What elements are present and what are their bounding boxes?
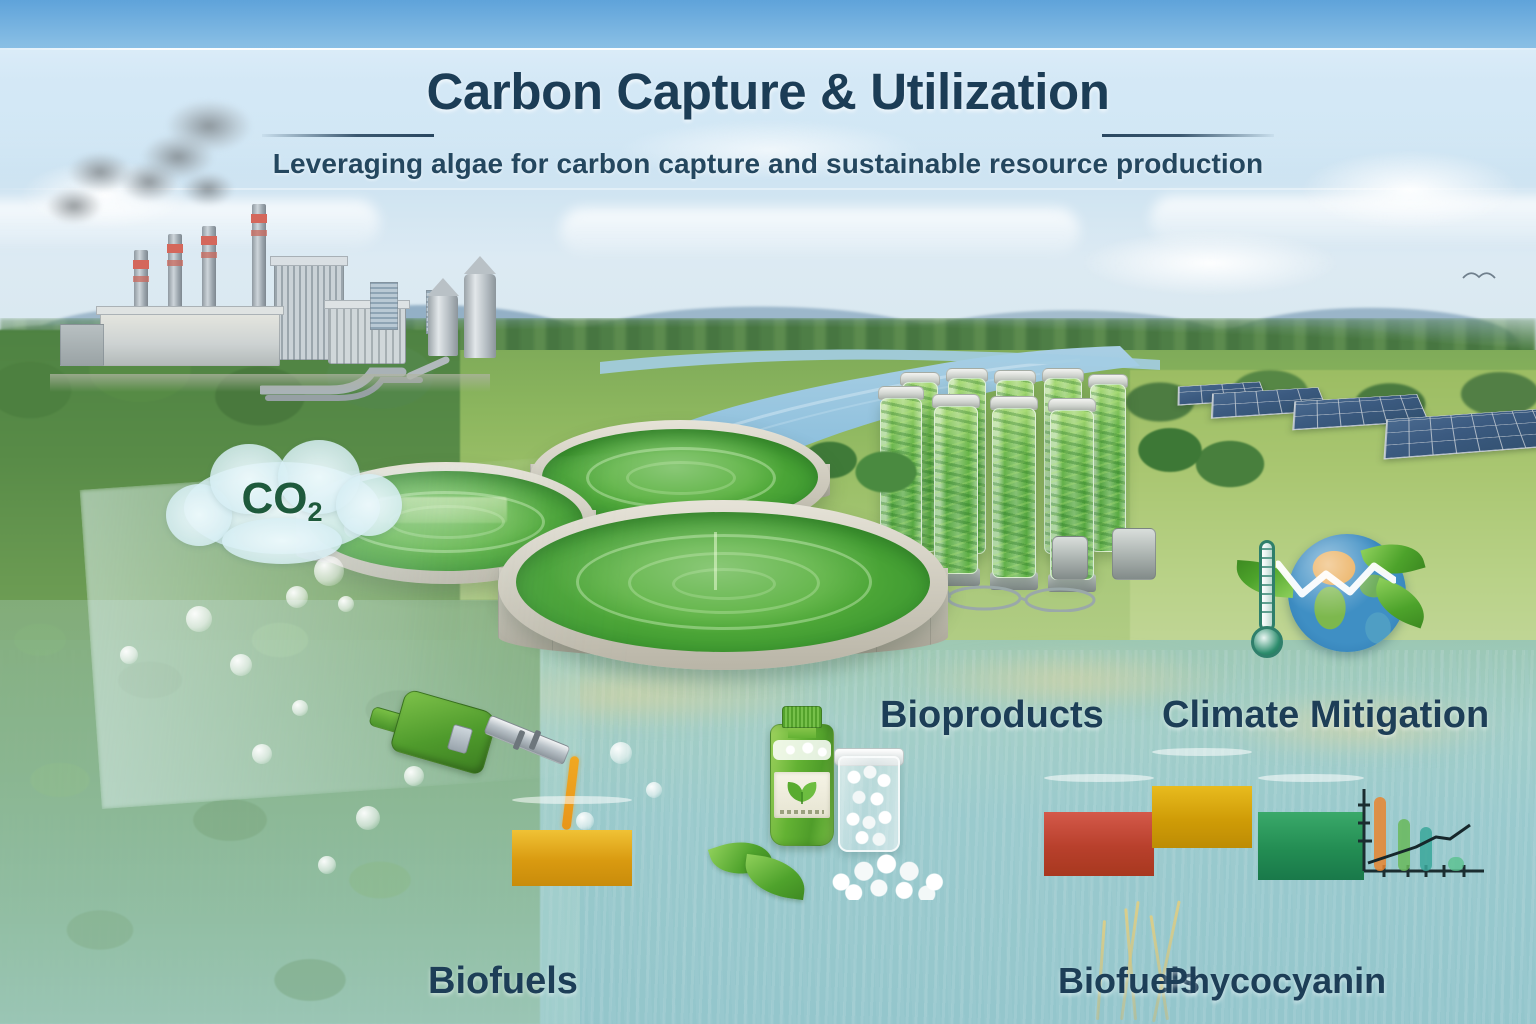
bubble-2 xyxy=(286,586,308,608)
label-phycocyanin: Phycocyanin xyxy=(1164,960,1386,1002)
top-frame-line xyxy=(0,48,1536,50)
yellow-liquid-surface xyxy=(1152,748,1252,756)
leaf-icon xyxy=(774,776,830,806)
label-bioproducts: Bioproducts xyxy=(880,694,1104,737)
plant-ground-apron xyxy=(50,374,490,392)
emissions-mini-chart xyxy=(1350,785,1490,885)
page-subtitle: Leveraging algae for carbon capture and … xyxy=(0,148,1536,180)
co2-cloud-puff-bottom xyxy=(222,518,342,564)
photobioreactor-front-3 xyxy=(992,408,1036,578)
fuel-nozzle-spout xyxy=(483,715,570,766)
power-plant xyxy=(30,196,530,416)
biofuel-flask-neck xyxy=(512,800,552,830)
chart-bar-3 xyxy=(1420,827,1432,871)
cloud-band-center xyxy=(560,208,1080,254)
chart-bar-4 xyxy=(1448,857,1464,871)
pond-front-paddle xyxy=(714,532,717,590)
bubble-6 xyxy=(120,646,138,664)
yellow-flask-neck xyxy=(1152,752,1188,786)
biofuel-liquid-surface xyxy=(512,796,632,804)
bioproduct-pellet-jar xyxy=(838,756,900,852)
yellow-flask-liquid xyxy=(1152,786,1252,848)
thermometer-ticks xyxy=(1262,548,1272,620)
main-hall xyxy=(100,312,280,366)
bioproduct-bottle-cap xyxy=(782,706,822,728)
red-liquid-surface xyxy=(1044,774,1154,782)
red-flask-liquid xyxy=(1044,812,1154,876)
biofuel-flask-cone xyxy=(512,830,632,938)
temperature-trend-line xyxy=(1276,558,1396,608)
bioproduct-leaf-2 xyxy=(742,854,809,900)
bioproduct-label-textlines xyxy=(780,810,824,814)
red-flask-neck xyxy=(1044,778,1084,812)
bubble-10 xyxy=(356,806,380,830)
yellow-flask-cone xyxy=(1152,786,1252,890)
bubble-5 xyxy=(186,606,212,632)
right-bushes-cluster xyxy=(1130,400,1270,510)
phyco-liquid-surface xyxy=(1258,774,1364,782)
title-rule-left xyxy=(262,134,434,137)
co2-label-subscript: 2 xyxy=(307,497,322,527)
bubble-14 xyxy=(646,782,662,798)
fuel-nozzle-body xyxy=(389,688,499,776)
phycocyanin-flask xyxy=(1258,778,1364,928)
yellow-pigment-flask xyxy=(1152,752,1252,900)
bubble-3 xyxy=(338,596,354,612)
small-tower-1 xyxy=(370,282,398,330)
bioplastic-pellet-pile xyxy=(826,840,952,900)
biofuel-flask-liquid xyxy=(512,830,632,886)
phyco-flask-liquid xyxy=(1258,812,1364,880)
bubble-12 xyxy=(252,744,272,764)
biofuel-flask xyxy=(512,800,632,940)
bubble-7 xyxy=(230,654,252,676)
thermometer-bulb xyxy=(1251,626,1283,658)
river-far-band xyxy=(600,336,1160,380)
silo-1-cap xyxy=(427,278,459,296)
co2-label-cloud: CO2 xyxy=(158,440,406,570)
main-hall-roof xyxy=(96,306,284,315)
label-biofuels-left: Biofuels xyxy=(428,960,578,1003)
phyco-flask-neck xyxy=(1258,778,1296,812)
boiler-roof xyxy=(270,256,348,266)
co2-label-text: CO2 xyxy=(158,474,406,524)
silo-2-cap xyxy=(464,256,496,274)
bioproduct-jar-pellets xyxy=(844,762,894,846)
title-block: Carbon Capture & Utilization xyxy=(0,62,1536,121)
pond-back-swirl-2 xyxy=(626,461,736,495)
co2-label-main: CO xyxy=(241,474,307,523)
silo-2 xyxy=(464,274,496,358)
chart-bar-2 xyxy=(1398,819,1410,871)
mini-chart-svg xyxy=(1350,785,1490,885)
page-title: Carbon Capture & Utilization xyxy=(427,62,1110,121)
phyco-flask-cone xyxy=(1258,812,1364,924)
bioproduct-bottle-label xyxy=(774,772,830,818)
bubble-11 xyxy=(318,856,336,874)
climate-mitigation-icon xyxy=(1236,524,1424,672)
side-hall xyxy=(60,324,104,366)
bioproduct-bottle-foam xyxy=(773,740,831,760)
label-climate-mitigation: Climate Mitigation xyxy=(1162,694,1489,737)
bubble-8 xyxy=(292,700,308,716)
infographic-poster: Carbon Capture & Utilization Leveraging … xyxy=(0,0,1536,1024)
pond-front-swirl-3 xyxy=(672,568,776,600)
smoke-puff-4 xyxy=(46,188,102,224)
title-rule-right xyxy=(1102,134,1274,137)
